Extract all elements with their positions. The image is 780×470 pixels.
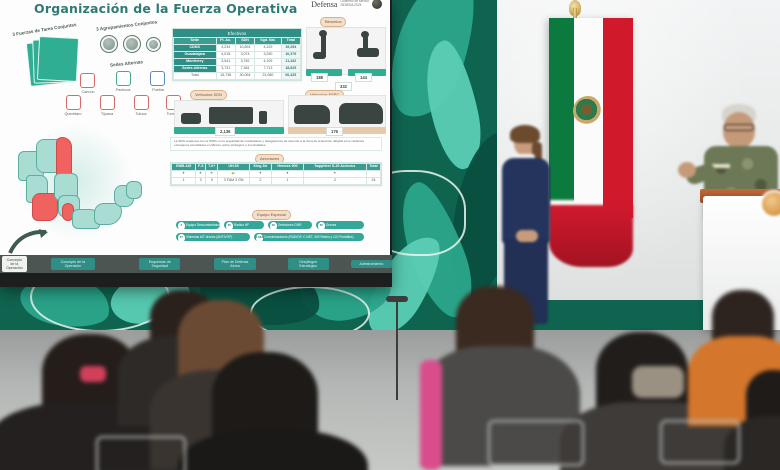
aircraft-icon-t6: ✈ [205,170,217,177]
equine-count: 144 [355,73,372,82]
mexico-map [2,117,162,247]
city-badge-puebla [150,71,165,86]
equipment-chip-4: 47 Sistemas A/T drones (ANTIVOP) [176,233,250,241]
city-badge-tijuana [100,95,115,110]
city-label-puebla: Puebla [145,88,171,92]
defensa-seal-icon [372,0,382,9]
city-badge-queretaro [66,95,81,110]
city-label-pachuca: Pachuca [110,88,136,92]
aircraft-icon-embraer: ✈ [172,170,196,177]
defensa-sub-line2: SEDENA 2024 [340,4,369,8]
grouping-seal-1-icon [100,35,118,53]
slide-tab-esquemas[interactable]: Esquemas de Seguridad [139,258,180,271]
projection-screen-frame: Organización de la Fuerza Operativa Defe… [0,0,392,287]
defensa-wordmark: Defensa [311,0,337,9]
equipment-chip-1-count: 20 [226,222,234,230]
flag-coat-of-arms-icon [573,96,603,126]
city-badge-pachuca [116,71,131,86]
city-badge-cancun [80,73,95,88]
projection-screen: Organización de la Fuerza Operativa Defe… [0,0,390,255]
equipment-pill: Equipo Especial [252,210,291,220]
equipment-chip-0-label: Equipo Descontaminación [186,223,223,227]
slide-note: La SDN coadyuva con la SSPC en la seguri… [170,137,382,151]
label-alternate-sites: Sedes Alternas [110,59,143,67]
city-label-tijuana: Tijuana [94,112,120,116]
binomios-pill: Binomios [320,17,346,27]
equipment-chip-2-count: 20 [270,222,278,230]
aircraft-icon-hermes: ✈ [272,170,304,177]
equipment-chip-1-label: Radios HF [234,223,249,227]
slide-title: Organización de la Fuerza Operativa [34,1,297,16]
effectives-table-title: Efectivos [173,29,301,37]
binomios-photo [306,27,386,75]
canine-count: 188 [311,73,328,82]
effectives-col-2: SDN [235,38,254,45]
presentation-slide: Organización de la Fuerza Operativa Defe… [0,0,390,255]
aircraft-icon-uh60: 🚁 [218,170,249,177]
equipment-chip-3: 35 Drones [316,221,364,229]
effectives-col-0: Sede [174,38,217,45]
light-vehicles-count: 176 [326,127,343,136]
slide-tab-concepto[interactable]: Concepto de la Operación [51,258,96,271]
table-row: CDMX 4,234 10,891 4,129 19,254 [174,44,301,51]
aircraft-icon-row: ✈ ✈ ✈ 🚁 ✈ ✈ ✈ [172,170,381,177]
podium-seal-icon [760,190,780,218]
task-force-card-stack [28,37,80,89]
light-vehicles-photo [288,95,386,131]
map-arrow-icon [8,229,50,255]
audience [0,270,780,470]
screenshot-root: Organización de la Fuerza Operativa Defe… [0,0,780,470]
slide-tab-adiestramiento[interactable]: Adiestramiento [351,260,392,268]
equipment-chip-2: 20 Detectores GNR [268,221,312,229]
slide-tab-defensa-aerea[interactable]: Plan de Defensa Aérea [214,258,255,271]
effectives-col-3: Sgd. Nal. [255,38,281,45]
equipment-chip-4-label: Sistemas A/T drones (ANTIVOP) [186,235,232,239]
heavy-vehicles-photo [174,100,284,130]
table-row: Guadalajara 4,015 3,074 3,290 10,379 [174,51,301,58]
slide-tab-despliegue[interactable]: Despliegue Estratégico [288,258,329,271]
table-row: Monterrey 3,541 3,782 4,109 11,432 [174,58,301,65]
aircraft-header-row: EMB-145 F-5 T-6+ UH-60 King Air Hermes 9… [172,164,381,171]
equipment-chip-3-count: 35 [318,222,326,230]
effectives-col-1: Ft. Ao. [216,38,235,45]
table-row: Sedes alternas 3,731 7,381 7,713 18,825 [174,65,301,72]
table-row: Total 15,738 30,054 21,080 60,425 [174,72,301,79]
equipment-chip-0-count: 3 [178,222,186,230]
effectives-table: Efectivos Sede Ft. Ao. SDN Sgd. Nal. Tot… [172,28,302,81]
city-label-queretaro: Querétaro [60,112,86,116]
equipment-chip-5-count: 2,649 [256,234,264,242]
city-label-cancun: Cancún [75,90,101,94]
equipment-chip-1: 20 Radios HF [224,221,264,229]
label-task-forces: 3 Fuerzas de Tarea Conjuntas [12,22,77,37]
aircraft-table: EMB-145 F-5 T-6+ UH-60 King Air Hermes 9… [170,162,382,186]
vehicles-heavy-pill: Vehículos SDN [190,90,227,100]
heavy-vehicles-count: 2,136 [215,127,235,136]
effectives-col-4: Total [281,38,300,45]
equipment-chip-3-label: Drones [326,223,336,227]
equipment-chip-5: 2,649 Comunicaciones (RADIOP, C-NET, 400… [254,233,364,241]
city-badge-toluca [134,95,149,110]
flag-band-red [603,18,633,218]
grouping-seal-2-icon [123,35,141,53]
equipment-chip-5-label: Comunicaciones (RADIOP, C-NET, 400 Redes… [264,235,354,239]
equipment-chip-4-count: 47 [178,234,186,242]
aircraft-icon-kingair: ✈ [249,170,271,177]
defensa-logo: Defensa Gobierno de México SEDENA 2024 [311,0,382,9]
equipment-chip-0: 3 Equipo Descontaminación [176,221,220,229]
equipment-chip-2-label: Detectores GNR [278,223,301,227]
aircraft-value-row: 1 3 9 3 FAM 3 GN 2 1 2 24 [172,177,381,184]
grouping-seal-3-icon [146,37,161,52]
aircraft-icon-f5: ✈ [196,170,206,177]
aircraft-icon-sapphire: ✈ [303,170,366,177]
label-groupings: 3 Agrupamientos Conjuntos [96,19,157,31]
effectives-header-row: Sede Ft. Ao. SDN Sgd. Nal. Total [174,38,301,45]
city-label-toluca: Toluca [128,112,154,116]
